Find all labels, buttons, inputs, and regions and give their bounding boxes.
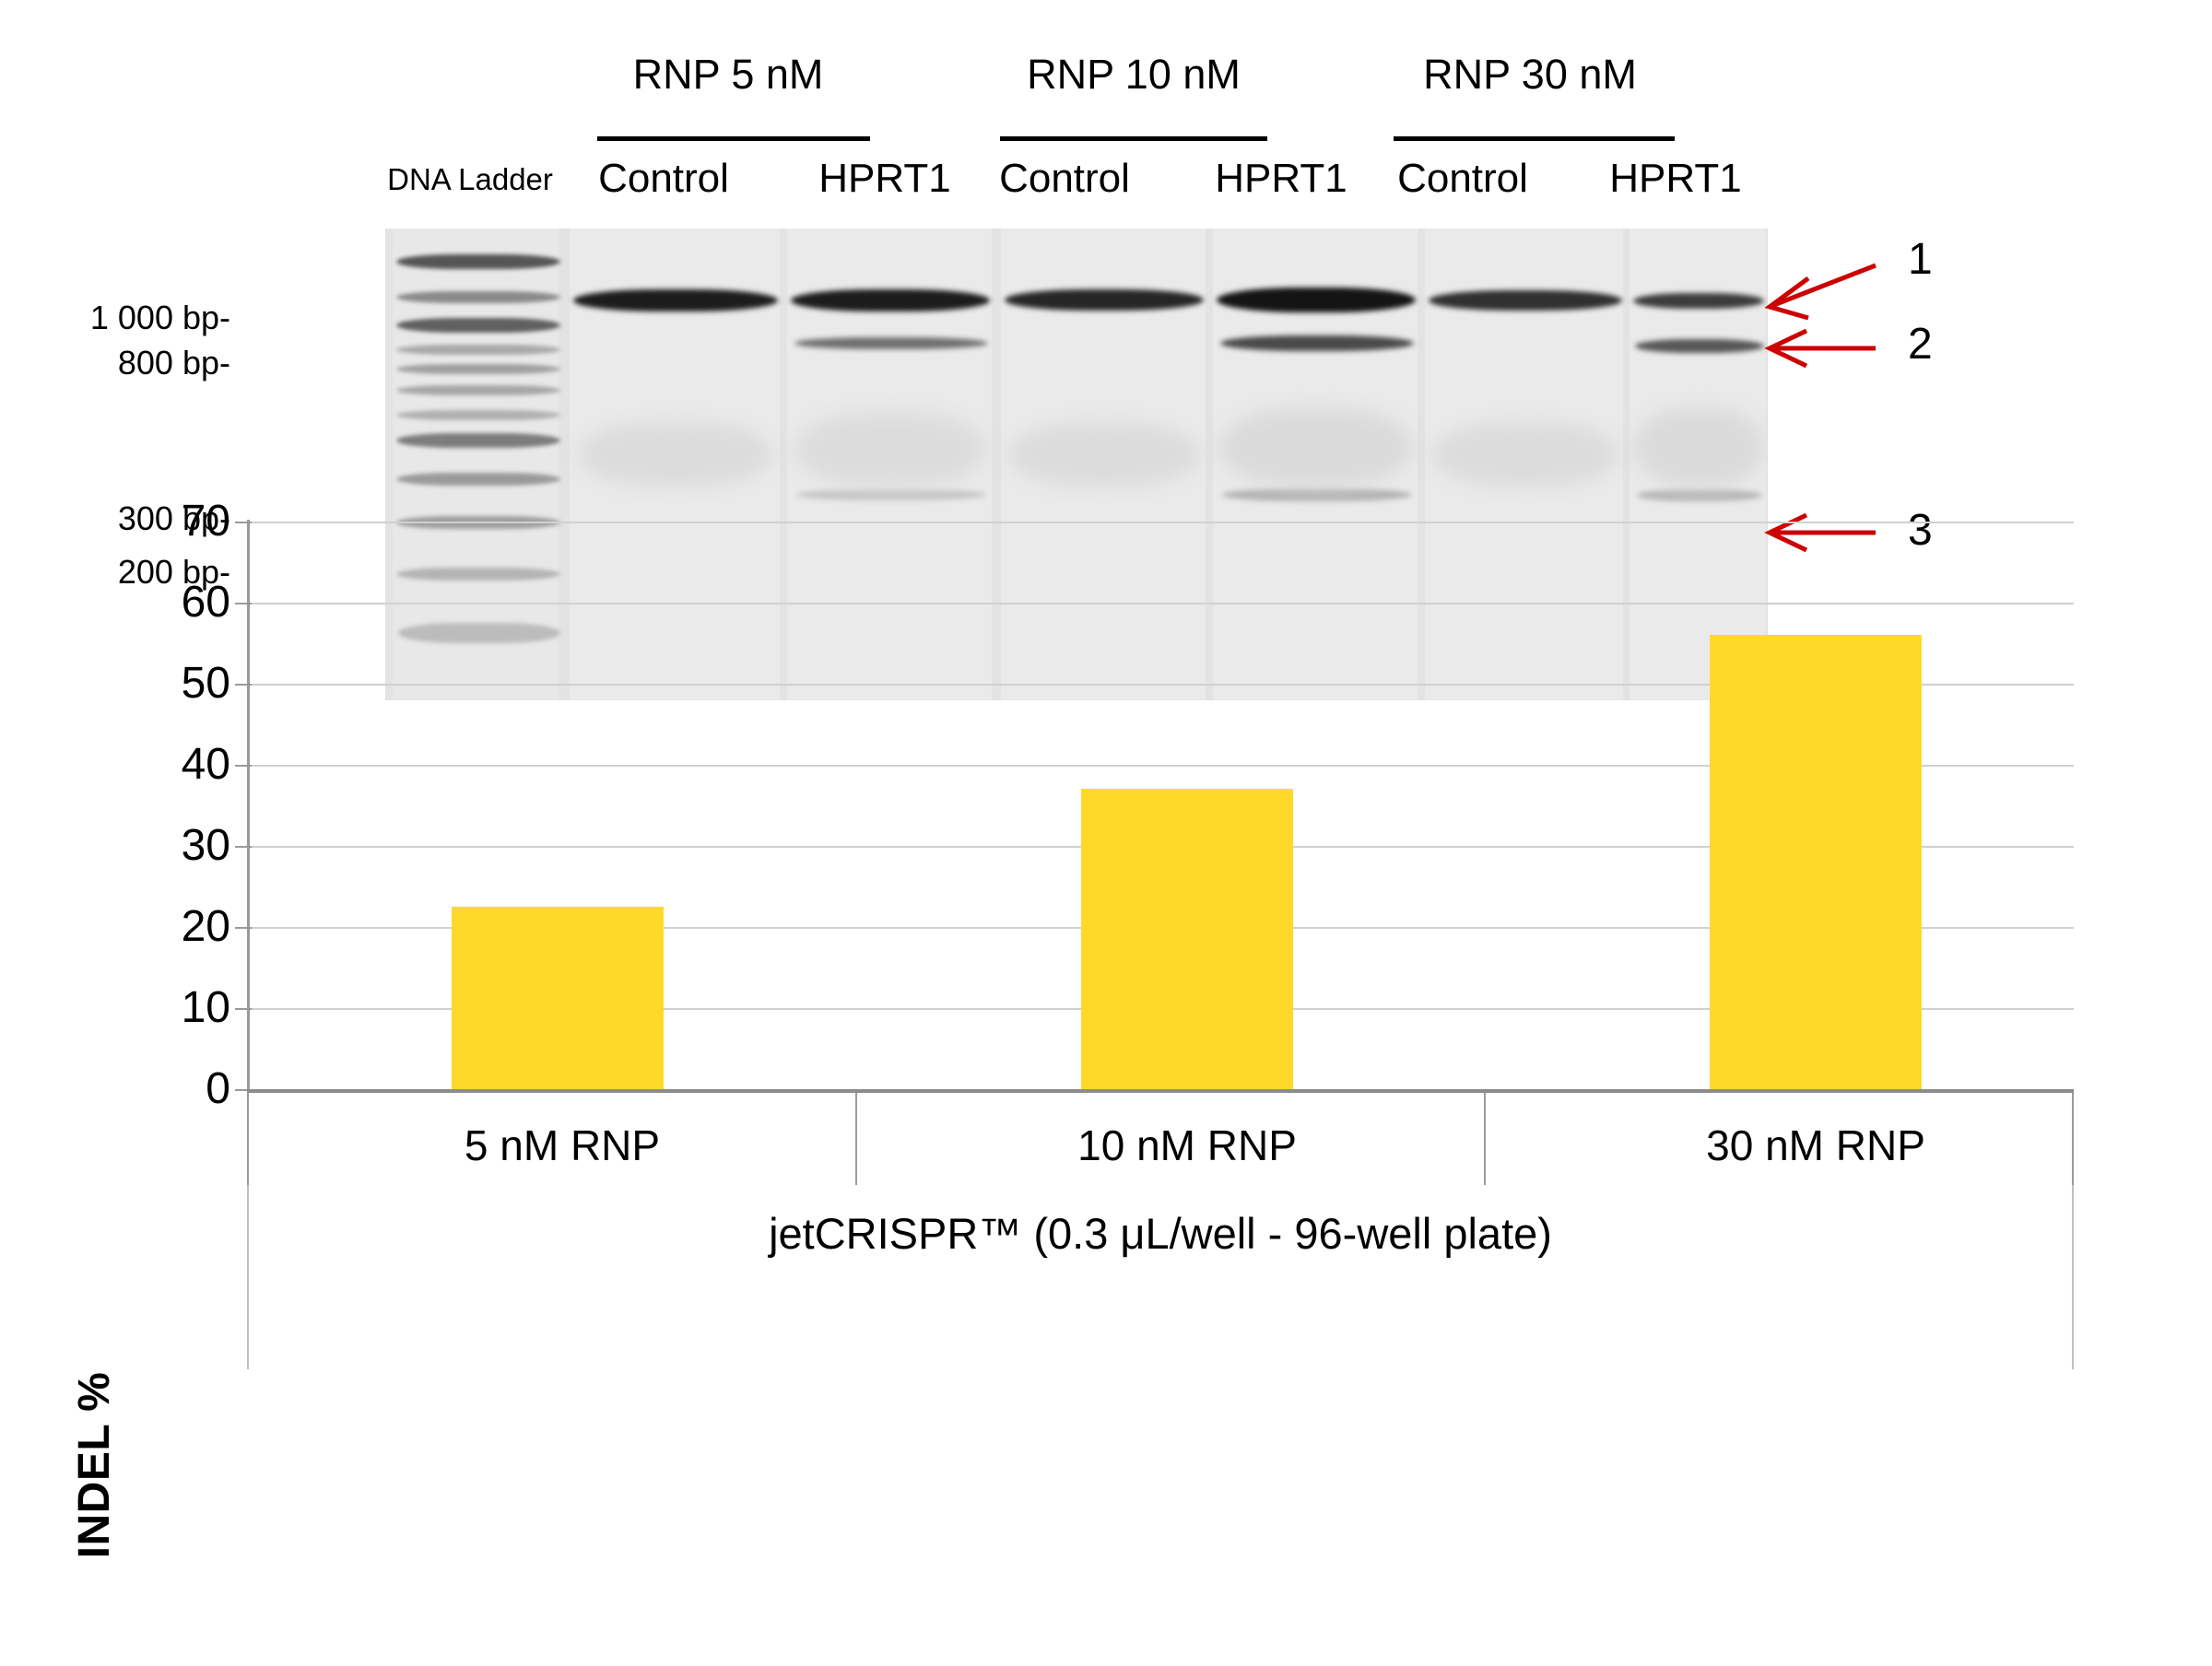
ladder-band (396, 291, 560, 303)
gel-band-smear (1220, 408, 1412, 487)
bp-marker-800: 800 bp- (118, 346, 230, 380)
y-tick-label-50: 50 (120, 662, 230, 706)
ladder-band (396, 318, 560, 333)
x-axis-baseline (247, 1089, 2074, 1093)
lane-header-hprt1-2: HPRT1 (1189, 158, 1373, 199)
gel-image (385, 229, 1768, 700)
plot-right-edge (2072, 1093, 2074, 1185)
ladder-band (396, 385, 560, 395)
gel-band-uncut (1633, 293, 1764, 309)
y-tick-label-20: 20 (120, 905, 230, 949)
gel-band-uncut (1217, 287, 1416, 312)
gel-band-smear (1635, 408, 1764, 487)
category-separator-2 (1484, 1093, 1486, 1185)
arrow-1-head (1770, 278, 1808, 318)
lane-header-hprt1-1: HPRT1 (793, 158, 977, 199)
y-axis-title: INDEL % (69, 1281, 120, 1649)
category-label-30nm: 30 nM RNP (1622, 1124, 2009, 1167)
group-header-rnp-5: RNP 5 nM (590, 53, 866, 95)
ladder-band (396, 345, 560, 355)
gel-band-cut-small (1222, 488, 1412, 501)
y-axis-line (247, 520, 250, 1093)
group-rule-rnp-30 (1394, 136, 1675, 141)
gridline-70 (249, 522, 2074, 523)
gridline-60 (249, 603, 2074, 604)
lane-header-control-2: Control (972, 158, 1157, 199)
bp-marker-1000: 1 000 bp- (90, 301, 230, 334)
gel-band-uncut (1005, 289, 1204, 311)
gel-band-cut-large (1635, 339, 1764, 353)
category-label-5nm: 5 nM RNP (369, 1124, 756, 1167)
arrow-3-head (1770, 515, 1806, 550)
ladder-band (396, 410, 560, 420)
gel-band-uncut (573, 289, 778, 311)
lane-header-dna-ladder: DNA Ladder (369, 164, 571, 194)
gel-band-cut-large (794, 337, 988, 349)
group-header-rnp-10: RNP 10 nM (986, 53, 1281, 95)
plot-left-edge (247, 1093, 249, 1185)
category-separator-1 (855, 1093, 857, 1185)
arrow-label-1: 1 (1908, 238, 1933, 282)
x-axis-title: jetCRISPR™ (0.3 μL/well - 96-well plate) (247, 1212, 2074, 1255)
ladder-band (398, 623, 560, 643)
lane-header-control-3: Control (1371, 158, 1555, 199)
plot-frame-left-lower (247, 1185, 249, 1369)
indel-bar-chart: INDEL % 70 60 50 40 30 20 10 0 5 nM RNP … (0, 737, 2212, 1666)
y-tick-label-40: 40 (120, 743, 230, 787)
gel-band-smear (1008, 422, 1200, 487)
y-tick-label-10: 10 (120, 986, 230, 1030)
plot-frame-right-lower (2072, 1185, 2074, 1369)
gel-panel: RNP 5 nM RNP 10 nM RNP 30 nM DNA Ladder … (0, 0, 2212, 737)
gel-band-cut-small (796, 489, 986, 500)
gel-band-uncut (1429, 290, 1622, 311)
ladder-band (396, 364, 560, 374)
gel-band-cut-small (1637, 489, 1762, 501)
group-header-rnp-30: RNP 30 nM (1382, 53, 1677, 95)
ladder-band (396, 473, 560, 486)
y-tick-label-70: 70 (120, 499, 230, 544)
arrow-label-2: 2 (1908, 323, 1933, 367)
y-tick-label-60: 60 (120, 581, 230, 625)
ladder-band (396, 254, 560, 269)
bar-10nm-rnp[interactable] (1081, 789, 1293, 1089)
y-tick-label-0: 0 (120, 1067, 230, 1111)
arrow-1-line (1771, 265, 1876, 306)
lane-header-hprt1-3: HPRT1 (1583, 158, 1768, 199)
ladder-band (396, 568, 560, 581)
group-rule-rnp-5 (597, 136, 870, 141)
category-label-10nm: 10 nM RNP (994, 1124, 1381, 1167)
y-tick-label-30: 30 (120, 824, 230, 868)
gel-band-smear (794, 413, 986, 487)
gel-band-cut-large (1220, 335, 1414, 351)
group-rule-rnp-10 (1000, 136, 1267, 141)
ladder-band (396, 433, 560, 448)
bar-30nm-rnp[interactable] (1710, 635, 1922, 1089)
arrow-label-3: 3 (1908, 509, 1933, 553)
gel-band-smear (579, 422, 772, 487)
gel-band-smear (1432, 422, 1618, 487)
bar-5nm-rnp[interactable] (452, 907, 664, 1089)
gel-band-uncut (791, 289, 990, 311)
arrow-2-head (1770, 331, 1806, 366)
lane-header-control-1: Control (571, 158, 756, 199)
